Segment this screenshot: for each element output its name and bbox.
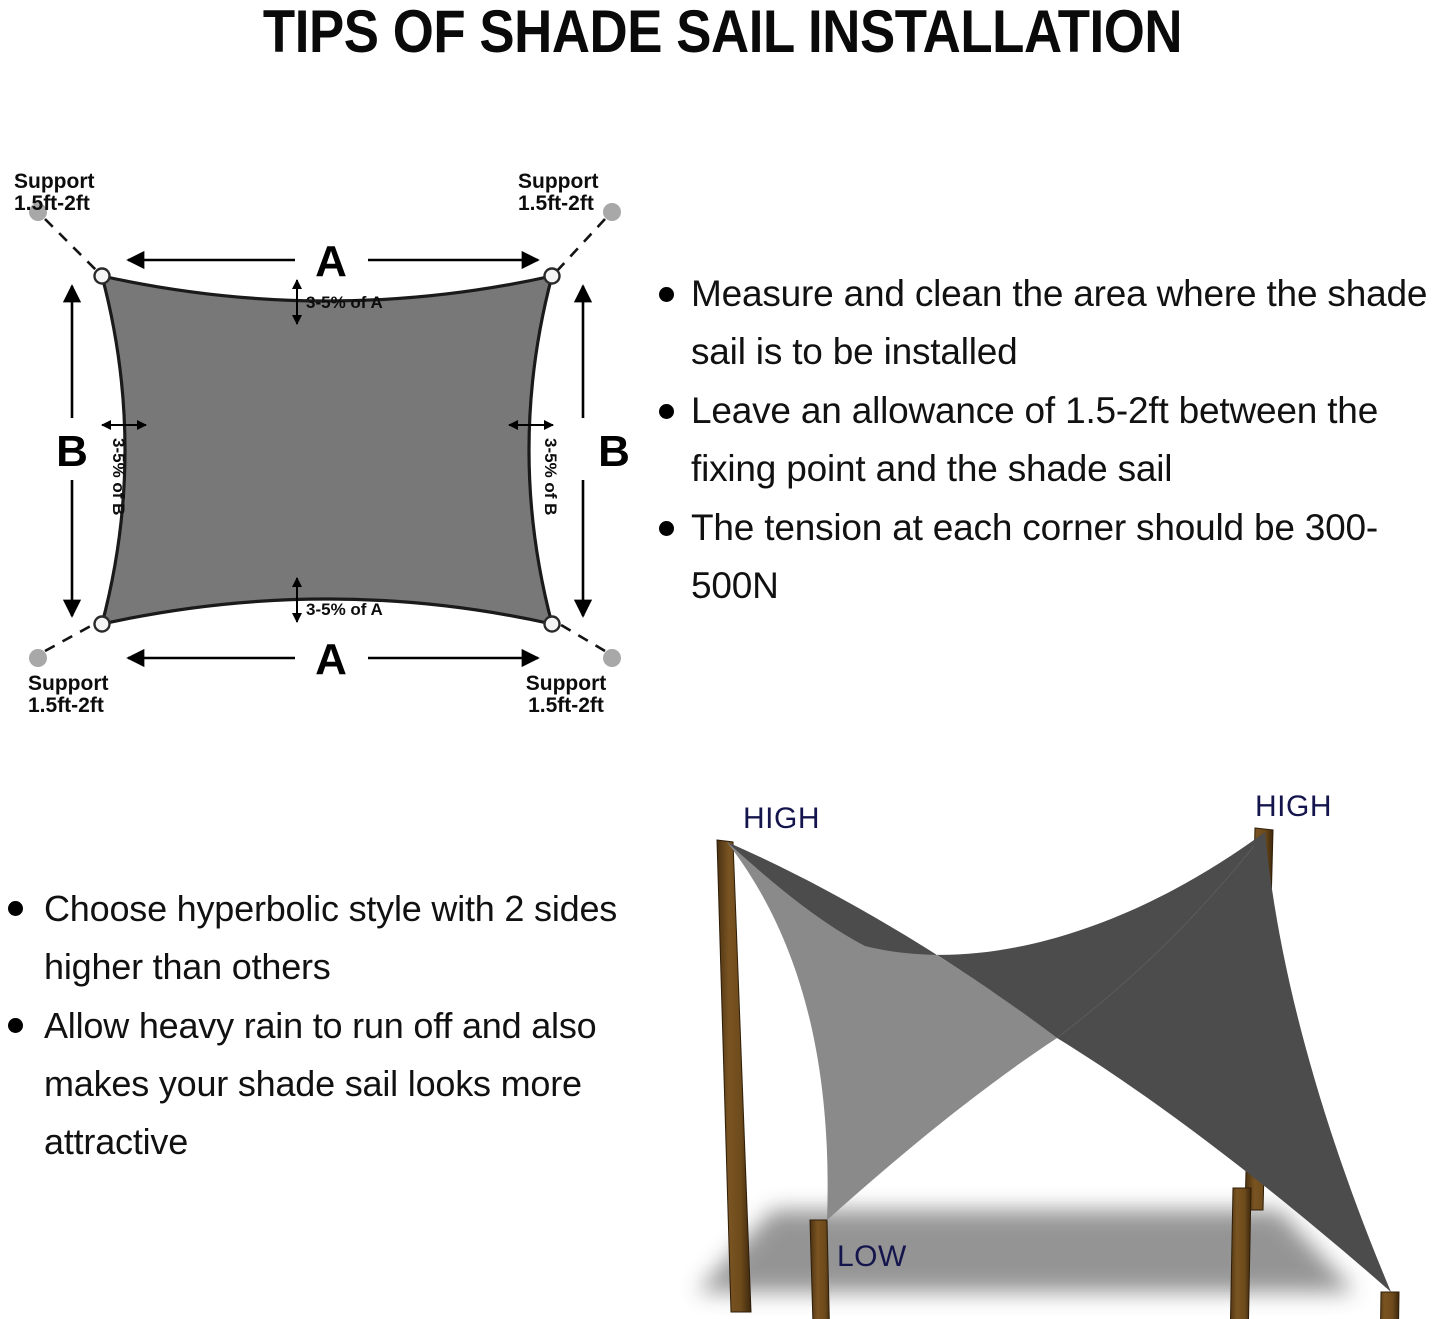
dimension-b-left: B	[56, 286, 88, 616]
support-dot-bottom-left	[29, 649, 47, 667]
list-item: Measure and clean the area where the sha…	[645, 265, 1445, 382]
dimension-label-b-left: B	[56, 427, 88, 476]
support-dot-top-right	[603, 203, 621, 221]
support-dash-top-right	[556, 219, 605, 272]
support-bottom-left-line1: Support	[28, 672, 108, 695]
post-low-far-right	[1377, 1292, 1399, 1319]
support-dash-top-left	[45, 219, 98, 272]
list-item: Leave an allowance of 1.5-2ft between th…	[645, 382, 1445, 499]
hyperbolic-sail-svg: HIGH HIGH LOW LOW	[655, 780, 1445, 1319]
support-label-bottom-left: Support 1.5ft-2ft	[28, 672, 108, 717]
label-high-right: HIGH	[1255, 790, 1332, 823]
support-top-right-line1: Support	[518, 170, 598, 193]
dimension-a-top: A	[128, 237, 538, 286]
tips-left-list: Choose hyperbolic style with 2 sides hig…	[0, 880, 640, 1172]
sag-label-a-top: 3-5% of A	[306, 293, 383, 312]
grommet-top-right	[545, 269, 560, 284]
support-bottom-left-line2: 1.5ft-2ft	[28, 694, 104, 717]
label-low-left: LOW	[837, 1240, 907, 1273]
list-item: The tension at each corner should be 300…	[645, 499, 1445, 616]
dimension-label-a-top: A	[315, 237, 347, 286]
support-label-top-right: Support 1.5ft-2ft	[518, 170, 598, 215]
sag-label-b-right: 3-5% of B	[541, 438, 560, 515]
posts-front	[717, 840, 751, 1312]
tips-right-list: Measure and clean the area where the sha…	[645, 265, 1445, 616]
ground-shadow	[697, 1210, 1355, 1292]
support-dash-bottom-left	[45, 622, 98, 651]
grommet-bottom-right	[545, 617, 560, 632]
label-high-left: HIGH	[743, 802, 820, 835]
list-item: Choose hyperbolic style with 2 sides hig…	[0, 880, 640, 997]
support-top-left-line2: 1.5ft-2ft	[14, 192, 90, 215]
support-label-bottom-right: Support 1.5ft-2ft	[526, 672, 606, 717]
support-bottom-right-line2: 1.5ft-2ft	[528, 694, 604, 717]
list-item: Allow heavy rain to run off and also mak…	[0, 997, 640, 1172]
support-bottom-right-line1: Support	[526, 672, 606, 695]
hyperbolic-sail-figure: HIGH HIGH LOW LOW	[655, 780, 1445, 1319]
sag-label-a-bottom: 3-5% of A	[306, 600, 383, 619]
post-low-right	[1229, 1188, 1251, 1319]
infographic-page: TIPS OF SHADE SAIL INSTALLATION	[0, 0, 1445, 1319]
dimension-a-bottom: A	[128, 635, 538, 684]
dimension-label-a-bottom: A	[315, 635, 347, 684]
dimension-label-b-right: B	[598, 427, 630, 476]
grommet-top-left	[95, 269, 110, 284]
rect-sail-svg: A 3-5% of A A 3-5% of A B	[0, 150, 660, 750]
dimension-b-right: B	[583, 286, 630, 616]
grommet-bottom-left	[95, 617, 110, 632]
support-top-left-line1: Support	[14, 170, 94, 193]
tips-list-upper-right: Measure and clean the area where the sha…	[645, 265, 1445, 685]
shade-sail-shape	[102, 276, 552, 624]
support-dash-bottom-right	[556, 622, 605, 651]
rectangular-sail-diagram: A 3-5% of A A 3-5% of A B	[0, 150, 660, 750]
support-dot-bottom-right	[603, 649, 621, 667]
page-title: TIPS OF SHADE SAIL INSTALLATION	[87, 2, 1359, 62]
support-top-right-line2: 1.5ft-2ft	[518, 192, 594, 215]
sag-label-b-left: 3-5% of B	[109, 438, 128, 515]
support-label-top-left: Support 1.5ft-2ft	[14, 170, 94, 215]
tips-list-lower-left: Choose hyperbolic style with 2 sides hig…	[0, 880, 640, 1210]
